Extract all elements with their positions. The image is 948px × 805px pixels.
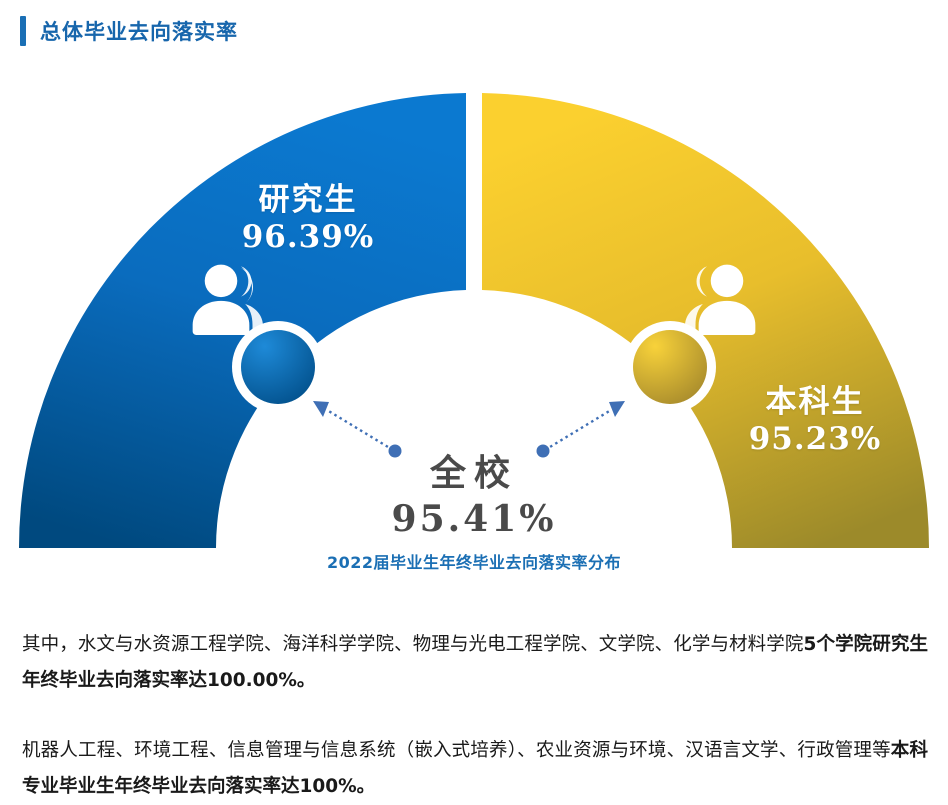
- page-header: 总体毕业去向落实率: [0, 14, 238, 48]
- header-accent-bar: [20, 16, 26, 46]
- gauge-chart: 研究生 96.39% 本科生 95.23% 全校 95.41% 2022届毕业生…: [0, 62, 948, 592]
- graduate-marker-dot[interactable]: [241, 330, 315, 404]
- page-title: 总体毕业去向落实率: [40, 16, 238, 46]
- paragraph-1-plain: 其中，水文与水资源工程学院、海洋科学学院、物理与光电工程学院、文学院、化学与材料…: [22, 634, 803, 655]
- connector-arrow-left: [313, 401, 402, 458]
- chart-caption: 2022届毕业生年终毕业去向落实率分布: [0, 549, 948, 573]
- gauge-svg: [0, 62, 948, 592]
- undergraduate-marker-dot[interactable]: [633, 330, 707, 404]
- connector-arrow-right: [537, 401, 626, 458]
- paragraph-graduate-colleges: 其中，水文与水资源工程学院、海洋科学学院、物理与光电工程学院、文学院、化学与材料…: [22, 627, 928, 699]
- paragraph-2-plain: 机器人工程、环境工程、信息管理与信息系统（嵌入式培养）、农业资源与环境、汉语言文…: [22, 740, 891, 761]
- paragraph-undergraduate-majors: 机器人工程、环境工程、信息管理与信息系统（嵌入式培养）、农业资源与环境、汉语言文…: [22, 733, 928, 805]
